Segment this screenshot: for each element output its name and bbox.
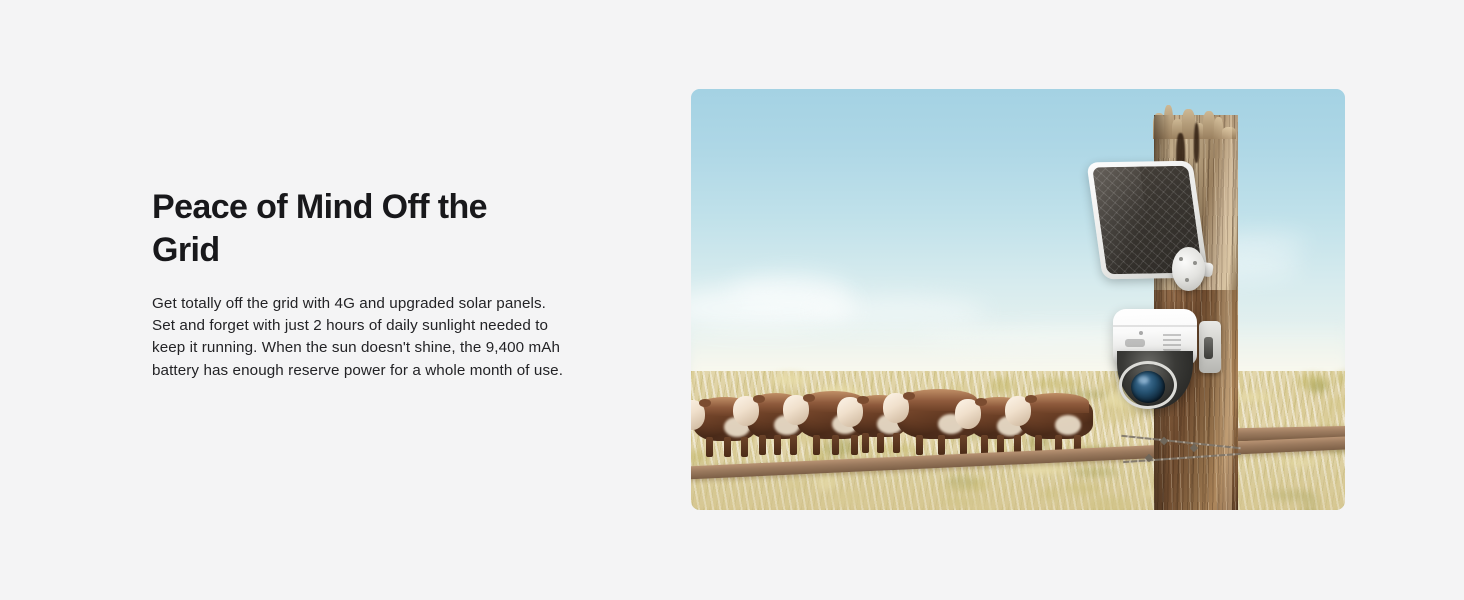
cow-leg bbox=[877, 433, 884, 453]
copy-block: Peace of Mind Off the Grid Get totally o… bbox=[152, 186, 572, 382]
microphone-icon bbox=[1139, 331, 1143, 335]
camera-vent-icon bbox=[1163, 331, 1181, 351]
cow-leg bbox=[724, 437, 731, 457]
cow-ear bbox=[699, 399, 711, 407]
cow-leg bbox=[832, 435, 839, 455]
cow-leg bbox=[813, 435, 820, 455]
security-camera bbox=[1113, 303, 1217, 411]
mount-screw bbox=[1185, 278, 1189, 282]
camera-seam bbox=[1113, 325, 1197, 327]
mount-screw bbox=[1193, 261, 1197, 265]
cow-leg bbox=[862, 433, 869, 453]
bracket-slot bbox=[1204, 337, 1213, 359]
cow-leg bbox=[774, 435, 781, 455]
cow bbox=[1009, 383, 1097, 455]
camera-wall-bracket bbox=[1199, 321, 1221, 373]
cow-ear bbox=[803, 394, 815, 402]
solar-mount-plate bbox=[1172, 247, 1205, 291]
grass-tuft bbox=[1235, 393, 1274, 401]
grass-tuft bbox=[1096, 415, 1130, 422]
wood-split bbox=[1194, 123, 1199, 163]
mount-screw bbox=[1179, 257, 1183, 261]
feature-section: Peace of Mind Off the Grid Get totally o… bbox=[0, 0, 1464, 600]
cow-leg bbox=[916, 435, 923, 455]
outdoor-scene bbox=[691, 89, 1345, 510]
grass-tuft bbox=[1309, 380, 1328, 393]
page-title: Peace of Mind Off the Grid bbox=[152, 186, 542, 272]
grass-tuft bbox=[1320, 409, 1334, 428]
camera-lens bbox=[1131, 371, 1165, 403]
cow-leg bbox=[759, 435, 766, 455]
cow-leg bbox=[938, 435, 945, 455]
product-lifestyle-image bbox=[691, 89, 1345, 510]
cow-patch bbox=[1055, 415, 1081, 435]
brand-logo-icon bbox=[1125, 339, 1145, 347]
cow-leg bbox=[706, 437, 713, 457]
body-paragraph: Get totally off the grid with 4G and upg… bbox=[152, 293, 564, 382]
